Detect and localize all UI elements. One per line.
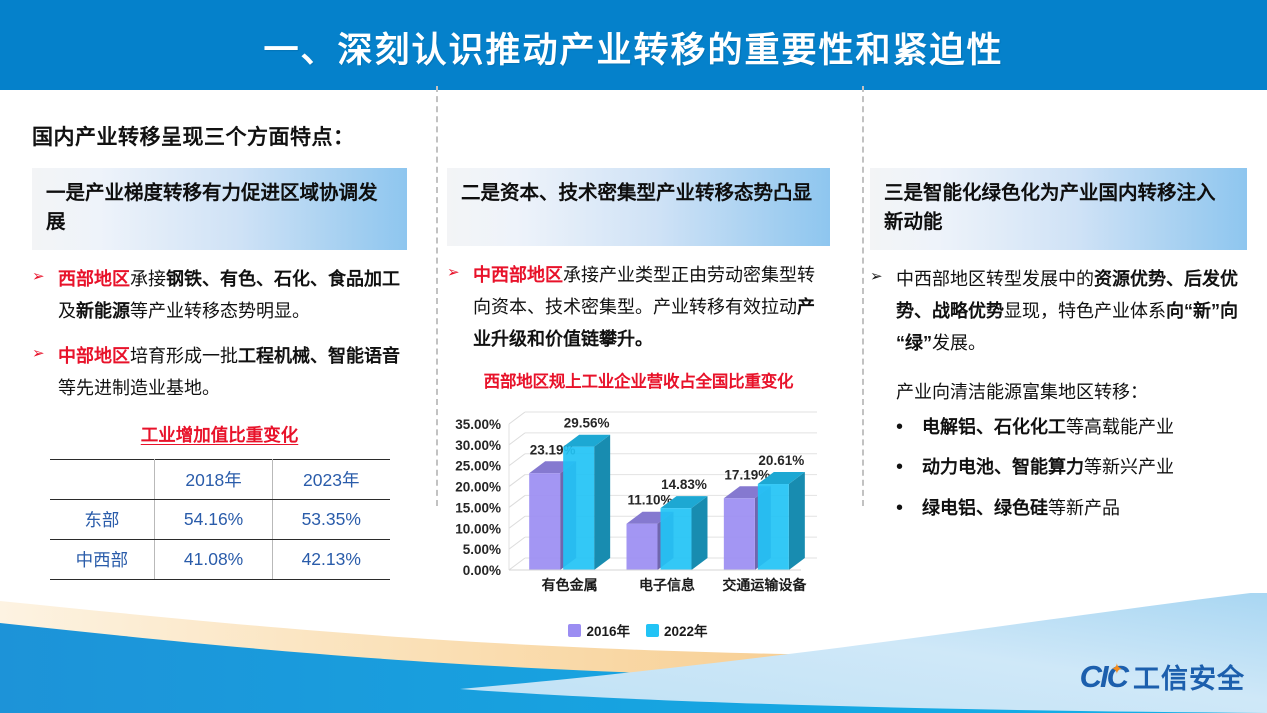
list-item-rest: 等新产品	[1048, 498, 1120, 518]
legend-swatch	[646, 624, 659, 637]
column-3: 三是智能化绿色化为产业国内转移注入新动能 ➢ 中西部地区转型发展中的资源优势、后…	[850, 168, 1267, 638]
logo-mark: CIC✦	[1080, 659, 1127, 695]
column-1: 一是产业梯度转移有力促进区域协调发展 ➢ 西部地区承接钢铁、有色、石化、食品加工…	[0, 168, 427, 638]
dot-bullet-icon: •	[896, 453, 922, 481]
star-icon: ✦	[1111, 660, 1122, 678]
table-row: 东部 54.16% 53.35%	[50, 499, 390, 539]
legend-item: 2016年	[568, 620, 630, 640]
svg-text:20.00%: 20.00%	[455, 480, 501, 495]
table-row: 中西部 41.08% 42.13%	[50, 539, 390, 579]
list-item-bold: 动力电池、智能算力	[922, 457, 1084, 477]
table-header-cell: 2023年	[273, 459, 390, 499]
text-run: 钢铁、有色、石化、食品加工	[166, 269, 400, 289]
bullet-item: ➢ 西部地区承接钢铁、有色、石化、食品加工及新能源等产业转移态势明显。	[32, 263, 407, 327]
table-cell: 东部	[50, 499, 155, 539]
svg-text:交通运输设备: 交通运输设备	[722, 577, 807, 593]
page-title: 一、深刻认识推动产业转移的重要性和紧迫性	[0, 22, 1267, 73]
table-cell: 42.13%	[273, 539, 390, 579]
bullet-text: 中西部地区承接产业类型正由劳动密集型转向资本、技术密集型。产业转移有效拉动产业升…	[473, 259, 830, 355]
arrow-bullet-icon: ➢	[32, 263, 54, 292]
table-cell: 41.08%	[155, 539, 273, 579]
list-item: • 电解铝、石化化工等高载能产业	[896, 413, 1247, 442]
clean-energy-list: • 电解铝、石化化工等高载能产业 • 动力电池、智能算力等新兴产业 • 绿电铝、…	[896, 413, 1247, 522]
arrow-bullet-icon: ➢	[447, 259, 469, 288]
text-run: 等先进制造业基地。	[58, 378, 220, 398]
column-1-bullets: ➢ 西部地区承接钢铁、有色、石化、食品加工及新能源等产业转移态势明显。 ➢ 中部…	[32, 263, 407, 404]
chart-title: 西部地区规上工业企业营收占全国比重变化	[447, 368, 830, 392]
svg-text:有色金属: 有色金属	[542, 577, 598, 593]
svg-text:5.00%: 5.00%	[463, 542, 501, 557]
column-2: 二是资本、技术密集型产业转移态势凸显 ➢ 中西部地区承接产业类型正由劳动密集型转…	[427, 168, 850, 638]
bullet-item: ➢ 中西部地区承接产业类型正由劳动密集型转向资本、技术密集型。产业转移有效拉动产…	[447, 259, 830, 355]
svg-text:10.00%: 10.00%	[455, 521, 501, 536]
dot-bullet-icon: •	[896, 413, 922, 441]
svg-text:30.00%: 30.00%	[455, 438, 501, 453]
list-item: • 绿电铝、绿色硅等新产品	[896, 494, 1247, 523]
column-3-header: 三是智能化绿色化为产业国内转移注入新动能	[870, 168, 1247, 250]
list-item-rest: 等新兴产业	[1084, 457, 1174, 477]
svg-text:25.00%: 25.00%	[455, 459, 501, 474]
text-run: 承接	[130, 269, 166, 289]
column-3-bullets: ➢ 中西部地区转型发展中的资源优势、后发优势、战略优势显现，特色产业体系向“新”…	[870, 263, 1247, 359]
chart-canvas: 0.00%5.00%10.00%15.00%20.00%25.00%30.00%…	[447, 398, 829, 613]
bullet-item: ➢ 中部地区培育形成一批工程机械、智能语音等先进制造业基地。	[32, 340, 407, 404]
svg-text:35.00%: 35.00%	[455, 417, 501, 432]
text-run: 显现，特色产业体系	[1004, 301, 1166, 321]
bullet-text: 中部地区培育形成一批工程机械、智能语音等先进制造业基地。	[58, 340, 407, 404]
chart-legend: 2016年 2022年	[447, 620, 829, 640]
bullet-text: 中西部地区转型发展中的资源优势、后发优势、战略优势显现，特色产业体系向“新”向“…	[896, 263, 1247, 359]
list-item-text: 电解铝、石化化工等高载能产业	[922, 413, 1174, 442]
column-3-paragraph: 产业向清洁能源富集地区转移：	[896, 377, 1247, 408]
bullet-text: 西部地区承接钢铁、有色、石化、食品加工及新能源等产业转移态势明显。	[58, 263, 407, 327]
svg-text:14.83%: 14.83%	[661, 477, 707, 492]
text-run: 培育形成一批	[130, 346, 238, 366]
table-cell: 中西部	[50, 539, 155, 579]
list-item-text: 动力电池、智能算力等新兴产业	[922, 453, 1174, 482]
column-1-header: 一是产业梯度转移有力促进区域协调发展	[32, 168, 407, 250]
industrial-value-table: 2018年 2023年 东部 54.16% 53.35% 中西部 41.08% …	[50, 459, 390, 580]
dot-bullet-icon: •	[896, 494, 922, 522]
brand-logo: CIC✦ 工信安全	[1080, 657, 1245, 696]
slide-title-bar: 一、深刻认识推动产业转移的重要性和紧迫性	[0, 0, 1267, 90]
list-item: • 动力电池、智能算力等新兴产业	[896, 453, 1247, 482]
table-title: 工业增加值比重变化	[32, 422, 407, 447]
svg-text:20.61%: 20.61%	[758, 453, 804, 468]
list-item-text: 绿电铝、绿色硅等新产品	[922, 494, 1120, 523]
text-run: 中西部地区转型发展中的	[896, 269, 1094, 289]
svg-text:15.00%: 15.00%	[455, 501, 501, 516]
text-run: 中西部地区	[473, 265, 563, 285]
column-2-header: 二是资本、技术密集型产业转移态势凸显	[447, 168, 830, 246]
list-item-bold: 绿电铝、绿色硅	[922, 498, 1048, 518]
arrow-bullet-icon: ➢	[870, 263, 892, 292]
table-header-cell	[50, 459, 155, 499]
list-item-rest: 等高载能产业	[1066, 417, 1174, 437]
table-cell: 53.35%	[273, 499, 390, 539]
text-run: 及	[58, 301, 76, 321]
column-2-bullets: ➢ 中西部地区承接产业类型正由劳动密集型转向资本、技术密集型。产业转移有效拉动产…	[447, 259, 830, 355]
content-columns: 一是产业梯度转移有力促进区域协调发展 ➢ 西部地区承接钢铁、有色、石化、食品加工…	[0, 168, 1267, 638]
svg-text:电子信息: 电子信息	[639, 577, 695, 593]
svg-text:0.00%: 0.00%	[463, 563, 501, 578]
list-item-bold: 电解铝、石化化工	[922, 417, 1066, 437]
text-run: 新能源	[76, 301, 130, 321]
legend-label: 2016年	[586, 620, 630, 640]
arrow-bullet-icon: ➢	[32, 340, 54, 369]
bullet-item: ➢ 中西部地区转型发展中的资源优势、后发优势、战略优势显现，特色产业体系向“新”…	[870, 263, 1247, 359]
text-run: 发展。	[932, 333, 986, 353]
legend-item: 2022年	[646, 620, 708, 640]
text-run: 中部地区	[58, 346, 130, 366]
slide-subtitle: 国内产业转移呈现三个方面特点：	[32, 121, 355, 151]
svg-text:29.56%: 29.56%	[564, 416, 610, 431]
legend-swatch	[568, 624, 581, 637]
revenue-share-bar-chart: 0.00%5.00%10.00%15.00%20.00%25.00%30.00%…	[447, 398, 829, 613]
table-cell: 54.16%	[155, 499, 273, 539]
logo-text: 工信安全	[1133, 657, 1245, 696]
legend-label: 2022年	[664, 620, 708, 640]
table-header-row: 2018年 2023年	[50, 459, 390, 499]
table-header-cell: 2018年	[155, 459, 273, 499]
text-run: 西部地区	[58, 269, 130, 289]
text-run: 工程机械、智能语音	[238, 346, 400, 366]
text-run: 等产业转移态势明显。	[130, 301, 310, 321]
